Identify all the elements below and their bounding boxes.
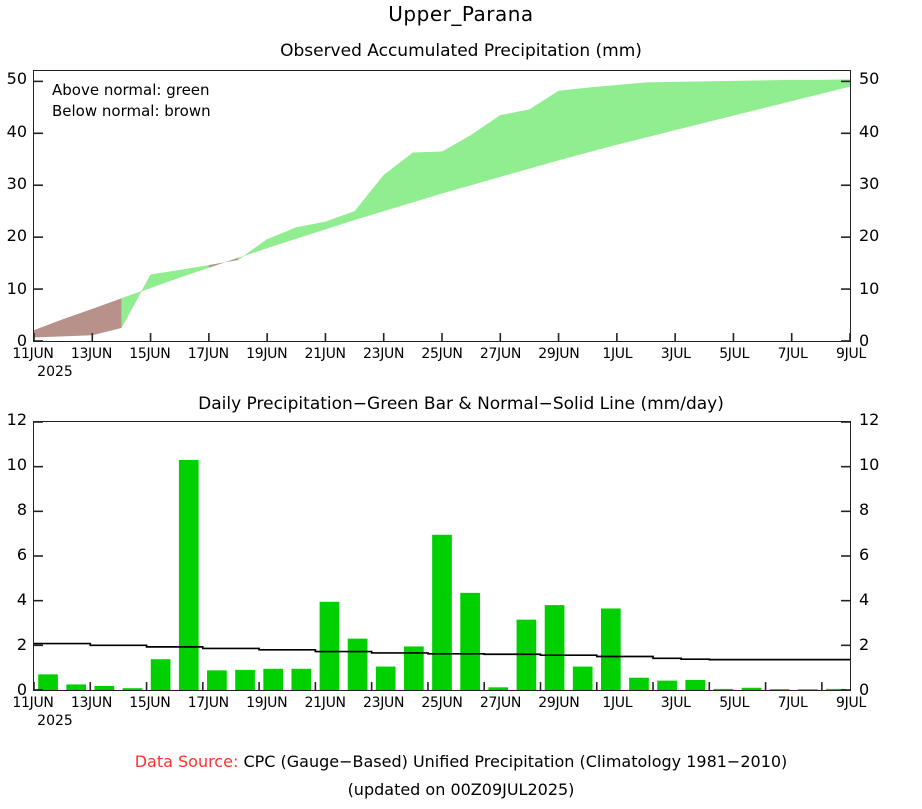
above-normal-area xyxy=(121,258,238,328)
x-axis-label-bottom: 11JUN xyxy=(12,695,53,711)
daily-precipitation-plot xyxy=(33,421,851,691)
daily-precip-bar xyxy=(432,535,452,690)
daily-precip-bar xyxy=(742,688,762,690)
daily-precip-bar xyxy=(376,667,396,690)
x-axis-label-bottom: 7JUL xyxy=(778,695,808,711)
legend-below-normal: Below normal: brown xyxy=(52,102,211,120)
daily-precip-bar xyxy=(770,689,790,690)
y-axis-label-top-right: 20 xyxy=(859,226,879,245)
x-axis-label-top: 11JUN xyxy=(12,346,53,362)
daily-precip-bar xyxy=(66,684,86,690)
data-source-label: Data Source: xyxy=(135,752,239,771)
y-axis-label-bottom-left: 8 xyxy=(0,500,27,519)
y-axis-label-bottom-right: 12 xyxy=(859,410,879,429)
year-label-top: 2025 xyxy=(37,364,73,380)
y-axis-label-top-right: 40 xyxy=(859,122,879,141)
daily-precip-bar xyxy=(291,669,311,690)
y-axis-label-bottom-left: 4 xyxy=(0,590,27,609)
x-axis-label-top: 9JUL xyxy=(836,346,866,362)
y-axis-label-top-right: 30 xyxy=(859,174,879,193)
data-source-line: Data Source: CPC (Gauge−Based) Unified P… xyxy=(0,752,922,771)
x-axis-label-top: 5JUL xyxy=(719,346,749,362)
x-axis-label-bottom: 21JUN xyxy=(305,695,346,711)
daily-precip-bar xyxy=(151,659,171,690)
y-axis-label-bottom-left: 2 xyxy=(0,635,27,654)
x-axis-label-top: 21JUN xyxy=(305,346,346,362)
x-axis-label-top: 25JUN xyxy=(421,346,462,362)
x-axis-label-bottom: 23JUN xyxy=(363,695,404,711)
y-axis-label-bottom-right: 10 xyxy=(859,455,879,474)
y-axis-label-top-left: 10 xyxy=(0,279,27,298)
daily-precip-bar xyxy=(601,608,621,690)
daily-precip-bar xyxy=(320,602,340,690)
x-axis-label-bottom: 9JUL xyxy=(836,695,866,711)
page-title: Upper_Parana xyxy=(0,2,922,26)
daily-precip-bar xyxy=(657,681,677,690)
x-axis-label-top: 3JUL xyxy=(661,346,691,362)
x-axis-label-bottom: 17JUN xyxy=(188,695,229,711)
daily-precip-bar xyxy=(123,688,143,690)
daily-precip-bar xyxy=(179,460,199,690)
y-axis-label-top-left: 30 xyxy=(0,174,27,193)
x-axis-label-bottom: 15JUN xyxy=(129,695,170,711)
x-axis-label-top: 7JUL xyxy=(778,346,808,362)
x-axis-label-bottom: 13JUN xyxy=(71,695,112,711)
x-axis-label-bottom: 19JUN xyxy=(246,695,287,711)
y-axis-label-bottom-right: 2 xyxy=(859,635,869,654)
year-label-bottom: 2025 xyxy=(37,713,73,729)
daily-precip-bar xyxy=(235,670,255,690)
y-axis-label-top-left: 40 xyxy=(0,122,27,141)
daily-precip-bar xyxy=(94,686,114,690)
top-chart-title: Observed Accumulated Precipitation (mm) xyxy=(0,41,922,61)
x-axis-label-top: 15JUN xyxy=(129,346,170,362)
x-axis-label-top: 27JUN xyxy=(480,346,521,362)
daily-precip-bar xyxy=(38,674,58,690)
y-axis-label-bottom-right: 4 xyxy=(859,590,869,609)
y-axis-label-top-left: 20 xyxy=(0,226,27,245)
daily-precip-bar xyxy=(348,639,368,690)
x-axis-label-top: 17JUN xyxy=(188,346,229,362)
x-axis-label-bottom: 29JUN xyxy=(538,695,579,711)
daily-precip-bar xyxy=(460,593,480,690)
x-axis-label-top: 1JUL xyxy=(602,346,632,362)
bottom-chart-title: Daily Precipitation−Green Bar & Normal−S… xyxy=(0,394,922,414)
daily-precip-bar xyxy=(629,678,649,690)
y-axis-label-bottom-left: 10 xyxy=(0,455,27,474)
y-axis-label-bottom-left: 12 xyxy=(0,410,27,429)
daily-precip-bar xyxy=(263,669,283,690)
x-axis-label-top: 29JUN xyxy=(538,346,579,362)
daily-precip-bar xyxy=(685,680,705,690)
y-axis-label-top-right: 10 xyxy=(859,279,879,298)
x-axis-label-bottom: 3JUL xyxy=(661,695,691,711)
daily-precip-bar xyxy=(714,689,734,690)
y-axis-label-top-left: 50 xyxy=(0,69,27,88)
daily-precip-bar xyxy=(207,670,227,690)
daily-precip-bar xyxy=(488,687,508,690)
x-axis-label-top: 23JUN xyxy=(363,346,404,362)
y-axis-label-top-right: 50 xyxy=(859,69,879,88)
x-axis-label-bottom: 27JUN xyxy=(480,695,521,711)
daily-precip-bar xyxy=(798,689,818,690)
above-normal-area xyxy=(238,79,850,260)
daily-bars-svg xyxy=(34,422,850,690)
x-axis-label-top: 13JUN xyxy=(71,346,112,362)
x-axis-label-top: 19JUN xyxy=(246,346,287,362)
y-axis-label-bottom-left: 6 xyxy=(0,545,27,564)
x-axis-label-bottom: 5JUL xyxy=(719,695,749,711)
data-source-text: CPC (Gauge−Based) Unified Precipitation … xyxy=(243,752,787,771)
legend-above-normal: Above normal: green xyxy=(52,81,210,99)
below-normal-area xyxy=(209,239,267,267)
daily-precip-bar xyxy=(573,667,593,690)
x-axis-label-bottom: 1JUL xyxy=(602,695,632,711)
y-axis-label-bottom-right: 6 xyxy=(859,545,869,564)
updated-line: (updated on 00Z09JUL2025) xyxy=(0,780,922,799)
y-axis-label-bottom-right: 8 xyxy=(859,500,869,519)
x-axis-label-bottom: 25JUN xyxy=(421,695,462,711)
daily-precip-bar xyxy=(545,605,565,690)
